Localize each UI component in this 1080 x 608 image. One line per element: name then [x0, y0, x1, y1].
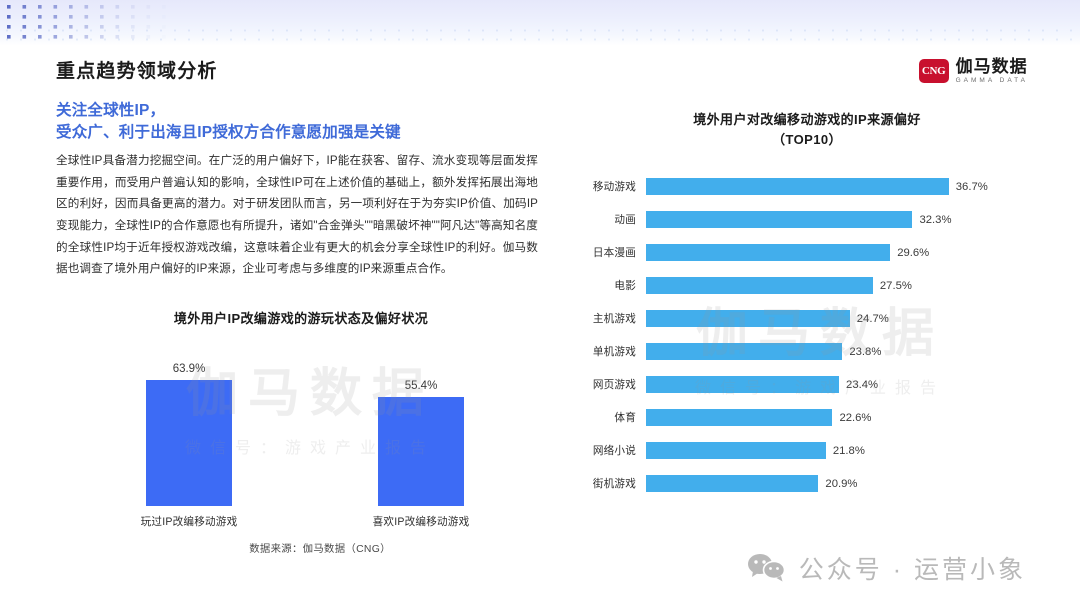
bar-fill — [646, 277, 873, 294]
column-value-label: 63.9% — [114, 363, 264, 380]
bar-category-label: 单机游戏 — [572, 344, 646, 359]
wechat-watermark-text: 公众号 · 运营小象 — [799, 550, 1026, 586]
bar-value-label: 23.4% — [839, 379, 878, 391]
column-bar — [146, 380, 232, 506]
bar-row: 日本漫画29.6% — [572, 236, 1042, 269]
lead-heading: 关注全球性IP， 受众广、利于出海且IP授权方合作意愿加强是关键 — [56, 100, 536, 144]
bar-category-label: 网页游戏 — [572, 377, 646, 392]
column-category-label: 玩过IP改编移动游戏 — [96, 506, 282, 529]
column-bar — [378, 397, 464, 506]
bar-track: 29.6% — [646, 244, 1042, 261]
cng-logo-icon: CNG — [919, 59, 949, 83]
bar-row: 移动游戏36.7% — [572, 170, 1042, 203]
wechat-icon — [747, 552, 787, 584]
bar-track: 27.5% — [646, 277, 1042, 294]
bar-fill — [646, 244, 890, 261]
band-texture — [0, 26, 1080, 44]
horizontal-bar-chart: 境外用户对改编移动游戏的IP来源偏好 （TOP10） 移动游戏36.7%动画32… — [572, 110, 1042, 520]
bar-fill — [646, 310, 850, 327]
bar-value-label: 36.7% — [949, 181, 988, 193]
bar-row: 电影27.5% — [572, 269, 1042, 302]
bar-track: 20.9% — [646, 475, 1042, 492]
bar-row: 单机游戏23.8% — [572, 335, 1042, 368]
bar-value-label: 23.8% — [842, 346, 881, 358]
lead-heading-line2: 受众广、利于出海且IP授权方合作意愿加强是关键 — [56, 122, 536, 144]
bar-row: 体育22.6% — [572, 401, 1042, 434]
bar-value-label: 20.9% — [818, 478, 857, 490]
bar-row: 主机游戏24.7% — [572, 302, 1042, 335]
brand-name-en: GAMMA DATA — [956, 77, 1028, 84]
bar-track: 23.8% — [646, 343, 1042, 360]
wechat-watermark: 公众号 · 运营小象 — [747, 550, 1026, 586]
brand-name-block: 伽马数据 GAMMA DATA — [956, 58, 1028, 84]
bar-category-label: 网络小说 — [572, 443, 646, 458]
bar-category-label: 日本漫画 — [572, 245, 646, 260]
column-group: 55.4%喜欢IP改编移动游戏 — [346, 397, 496, 506]
article-body: 全球性IP具备潜力挖掘空间。在广泛的用户偏好下，IP能在获客、留存、流水变现等层… — [56, 150, 538, 280]
bar-row: 网页游戏23.4% — [572, 368, 1042, 401]
column-chart: 境外用户IP改编游戏的游玩状态及偏好状况 63.9%玩过IP改编移动游戏55.4… — [56, 308, 546, 538]
bar-fill — [646, 475, 818, 492]
bar-value-label: 24.7% — [850, 313, 889, 325]
bar-category-label: 体育 — [572, 410, 646, 425]
page-title: 重点趋势领域分析 — [56, 56, 218, 83]
bar-value-label: 22.6% — [832, 412, 871, 424]
bar-category-label: 街机游戏 — [572, 476, 646, 491]
brand-logo: CNG 伽马数据 GAMMA DATA — [919, 58, 1028, 84]
column-chart-plot: 63.9%玩过IP改编移动游戏55.4%喜欢IP改编移动游戏 — [56, 355, 546, 530]
lead-heading-line1: 关注全球性IP， — [56, 100, 536, 122]
bar-track: 22.6% — [646, 409, 1042, 426]
source-note: 数据来源：伽马数据（CNG） — [0, 540, 640, 555]
bar-fill — [646, 409, 832, 426]
brand-name-cn: 伽马数据 — [956, 58, 1028, 76]
bar-track: 21.8% — [646, 442, 1042, 459]
bar-value-label: 21.8% — [826, 445, 865, 457]
bar-track: 36.7% — [646, 178, 1042, 195]
bar-track: 32.3% — [646, 211, 1042, 228]
bar-fill — [646, 211, 912, 228]
column-chart-title: 境外用户IP改编游戏的游玩状态及偏好状况 — [56, 308, 546, 327]
bar-fill — [646, 442, 826, 459]
top-gradient-band — [0, 0, 1080, 46]
bar-row: 街机游戏20.9% — [572, 467, 1042, 500]
bar-category-label: 电影 — [572, 278, 646, 293]
column-value-label: 55.4% — [346, 380, 496, 397]
bar-row: 动画32.3% — [572, 203, 1042, 236]
decorative-dot-grid — [0, 0, 170, 42]
bar-chart-rows: 移动游戏36.7%动画32.3%日本漫画29.6%电影27.5%主机游戏24.7… — [572, 170, 1042, 500]
bar-category-label: 主机游戏 — [572, 311, 646, 326]
bar-category-label: 移动游戏 — [572, 179, 646, 194]
bar-chart-title-line1: 境外用户对改编移动游戏的IP来源偏好 — [572, 110, 1042, 130]
bar-chart-title: 境外用户对改编移动游戏的IP来源偏好 （TOP10） — [572, 110, 1042, 150]
bar-value-label: 29.6% — [890, 247, 929, 259]
bar-fill — [646, 343, 842, 360]
bar-fill — [646, 376, 839, 393]
bar-track: 23.4% — [646, 376, 1042, 393]
column-category-label: 喜欢IP改编移动游戏 — [328, 506, 514, 529]
bar-value-label: 27.5% — [873, 280, 912, 292]
bar-value-label: 32.3% — [912, 214, 951, 226]
column-group: 63.9%玩过IP改编移动游戏 — [114, 380, 264, 506]
bar-track: 24.7% — [646, 310, 1042, 327]
bar-chart-title-line2: （TOP10） — [572, 130, 1042, 150]
bar-category-label: 动画 — [572, 212, 646, 227]
bar-row: 网络小说21.8% — [572, 434, 1042, 467]
bar-fill — [646, 178, 949, 195]
